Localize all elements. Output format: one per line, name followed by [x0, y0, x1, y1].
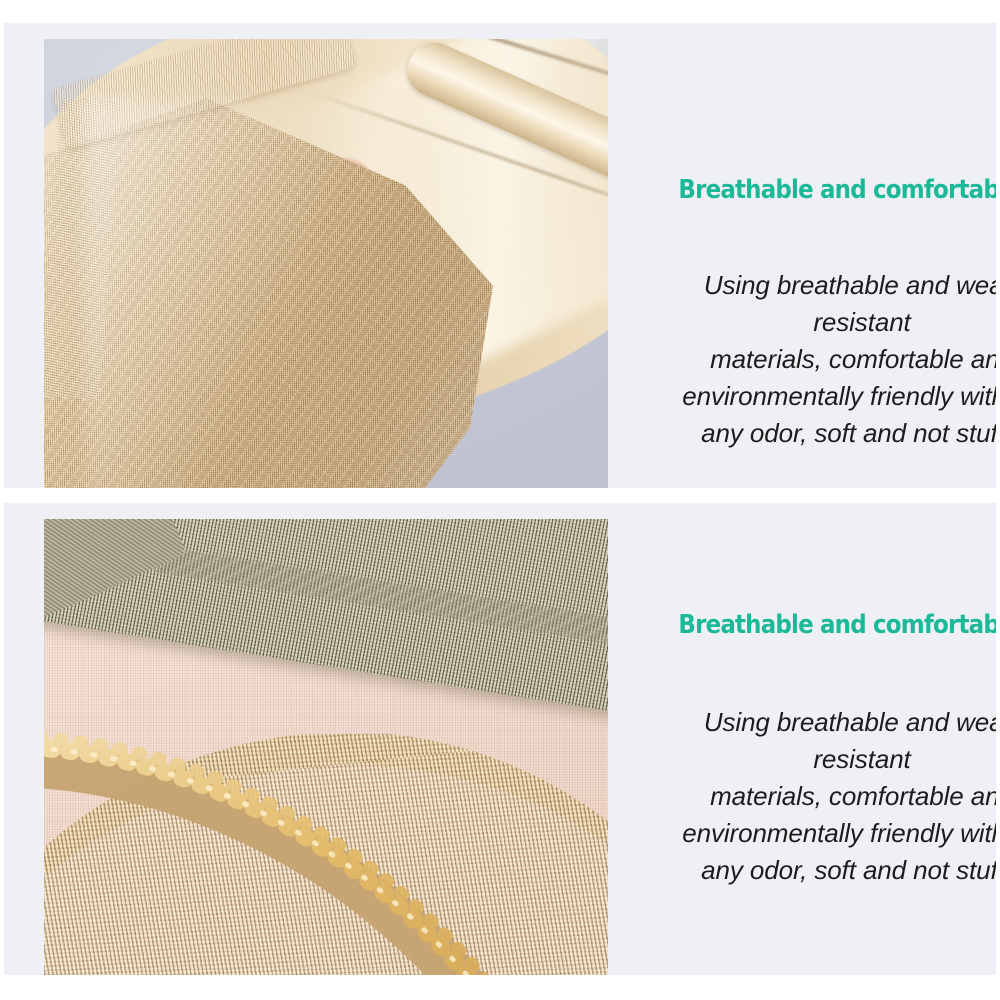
feature-description: Using breathable and wear-resistant mate…	[658, 267, 996, 452]
infographic-canvas: Breathable and comfortable fabric Using …	[0, 0, 1000, 1000]
feature-description-line-3: environmentally friendly without	[682, 818, 996, 848]
feature-panel-top: Breathable and comfortable fabric Using …	[4, 23, 996, 488]
feature-description-line-1: Using breathable and wear-resistant	[704, 270, 996, 337]
feature-description-line-1: Using breathable and wear-resistant	[704, 707, 996, 774]
feature-panel-bottom: Breathable and comfortable fabric Using …	[4, 503, 996, 975]
feature-copy-bottom: Breathable and comfortable fabric Using …	[648, 503, 996, 975]
feature-description-line-3: environmentally friendly without	[682, 381, 996, 411]
feature-heading: Breathable and comfortable fabric	[678, 613, 996, 639]
feature-description-line-2: materials, comfortable and	[710, 344, 996, 374]
product-photo-hand-holding-mesh	[44, 39, 608, 488]
feature-description: Using breathable and wear-resistant mate…	[658, 704, 996, 889]
feature-description-line-2: materials, comfortable and	[710, 781, 996, 811]
feature-heading: Breathable and comfortable fabric	[678, 178, 996, 204]
product-photo-mesh-edge-stitching	[44, 519, 608, 975]
curved-fabric-edge-group	[44, 734, 608, 975]
curved-mesh-band-texture	[44, 734, 608, 975]
feature-description-line-4: any odor, soft and not stuffy.	[701, 855, 996, 885]
feature-description-line-4: any odor, soft and not stuffy.	[701, 418, 996, 448]
feature-copy-top: Breathable and comfortable fabric Using …	[648, 23, 996, 488]
